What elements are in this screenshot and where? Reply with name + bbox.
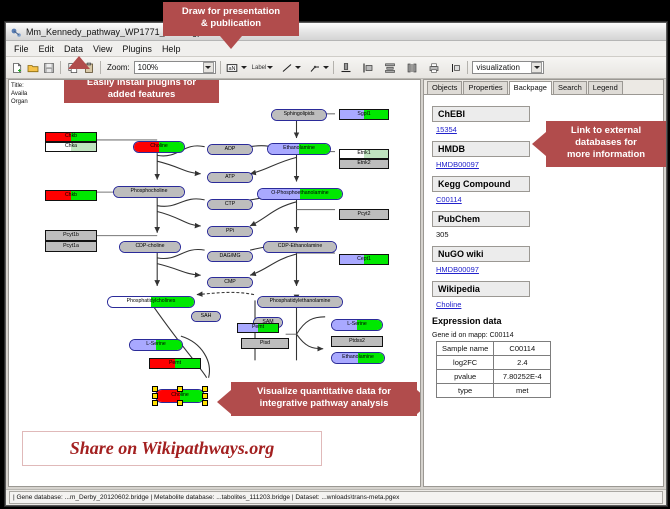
chevron-down-icon[interactable]	[203, 62, 214, 73]
tab-properties[interactable]: Properties	[463, 81, 507, 94]
callout-links-arrow-left	[532, 132, 546, 156]
align-left-icon[interactable]	[360, 60, 375, 75]
zoom-value: 100%	[138, 63, 203, 72]
zoom-combo[interactable]: 100%	[134, 61, 216, 74]
node-label: CMP	[224, 280, 236, 285]
pathway-node-metabolite[interactable]: L-Serine	[129, 339, 183, 351]
node-label: Sgpl1	[357, 112, 370, 117]
node-label: DAG/MG	[219, 254, 240, 259]
callout-links-line2: databases for	[575, 137, 637, 148]
node-label: CTP	[225, 202, 235, 207]
menu-data[interactable]: Data	[59, 43, 88, 55]
anchorline-chevron-down-icon[interactable]	[323, 66, 329, 69]
db-header-pubchem: PubChem	[432, 211, 530, 227]
db-value-pubchem: 305	[436, 230, 655, 239]
node-label: Phosphatidylethanolamine	[270, 299, 331, 304]
pathway-node-metabolite[interactable]: Choline	[133, 141, 185, 153]
toolbar-separator-1	[60, 61, 61, 74]
pathway-node-gene[interactable]: Chka	[45, 142, 97, 152]
pathway-node-metabolite[interactable]: L-Serine	[331, 319, 383, 331]
pathway-node-gene[interactable]: Cept1	[339, 254, 389, 265]
pathway-node-metabolite[interactable]: SAH	[191, 311, 221, 322]
tab-search[interactable]: Search	[553, 81, 587, 94]
toolbar-separator-2	[100, 61, 101, 74]
cell-value: met	[494, 384, 551, 398]
callout-draw-line1: Draw for presentation	[182, 6, 280, 17]
pathway-node-gene[interactable]: Chkb	[45, 132, 97, 142]
print-icon[interactable]	[426, 60, 441, 75]
datanode-tool[interactable]: aN	[225, 60, 247, 75]
meta-title-label: Title:	[11, 82, 28, 90]
pathway-node-metabolite[interactable]: Phosphocholine	[113, 186, 185, 198]
node-label: Pisd	[260, 341, 270, 346]
node-label: Ethanolamine	[342, 355, 374, 360]
callout-plugins-arrow-up	[68, 56, 90, 69]
screenshot-root: Mm_Kennedy_pathway_WP1771_45176.gpml Fil…	[0, 0, 670, 509]
pathway-node-metabolite[interactable]: CTP	[207, 199, 253, 210]
db-header-chebi: ChEBI	[432, 106, 530, 122]
expression-data-title: Expression data	[432, 316, 655, 326]
label-tool[interactable]: Label	[252, 65, 274, 71]
callout-visualize-line1: Visualize quantitative data for	[257, 386, 391, 397]
node-label: Phosphocholine	[131, 189, 168, 194]
pathway-node-gene[interactable]: Sgpl1	[339, 109, 389, 120]
cell-label: pvalue	[437, 370, 494, 384]
pathway-node-gene[interactable]: Pemt	[237, 323, 279, 333]
callout-visualize-arrow-left	[217, 390, 231, 414]
pathway-node-metabolite[interactable]: CDP-Ethanolamine	[263, 241, 337, 253]
save-icon[interactable]	[41, 60, 56, 75]
visualization-combo[interactable]: visualization	[472, 61, 544, 74]
node-label: L-Serine	[347, 322, 367, 327]
callout-plugins: Easily install plugins for added feature…	[64, 79, 219, 103]
db-header-kegg: Kegg Compound	[432, 176, 530, 192]
node-label: Ethanolamine	[283, 146, 315, 151]
line-chevron-down-icon[interactable]	[295, 66, 301, 69]
node-label: Cept1	[357, 257, 371, 262]
selection-handle[interactable]	[177, 386, 183, 392]
node-label: ATP	[225, 175, 235, 180]
selection-handle[interactable]	[152, 400, 158, 406]
anchor-line-icon[interactable]	[307, 60, 322, 75]
align-bottom-icon[interactable]	[338, 60, 353, 75]
selection-handle[interactable]	[177, 400, 183, 406]
selection-handle[interactable]	[202, 393, 208, 399]
expression-table: Sample name C00114 log2FC 2.4 pvalue 7.8…	[436, 341, 551, 398]
node-label: Ptdss2	[349, 339, 365, 344]
tab-backpage[interactable]: Backpage	[509, 81, 552, 95]
db-header-nugo: NuGO wiki	[432, 246, 530, 262]
pathway-node-metabolite[interactable]: DAG/MG	[207, 251, 253, 262]
node-label: ADP	[225, 147, 236, 152]
node-label: Pcyt2	[358, 212, 371, 217]
cell-label: log2FC	[437, 356, 494, 370]
bring-front-icon[interactable]	[448, 60, 463, 75]
table-row: type met	[437, 384, 551, 398]
same-width-icon[interactable]	[404, 60, 419, 75]
datanode-icon[interactable]: aN	[225, 60, 240, 75]
visualization-chevron-down-icon[interactable]	[531, 62, 542, 73]
cell-label: type	[437, 384, 494, 398]
pathway-node-gene[interactable]: Pcyt1a	[45, 241, 97, 252]
selection-handle[interactable]	[152, 393, 158, 399]
cell-value: 7.80252E-4	[494, 370, 551, 384]
pathway-node-gene[interactable]: Etnk1	[339, 149, 389, 159]
cell-value: 2.4	[494, 356, 551, 370]
callout-visualize-arrow-right	[417, 390, 421, 414]
cell-label: Sample name	[437, 342, 494, 356]
node-label: Etnk2	[357, 161, 370, 166]
pathway-node-gene[interactable]: Etnk2	[339, 159, 389, 169]
panel-tabs[interactable]: Objects Properties Backpage Search Legen…	[424, 80, 663, 95]
menu-help[interactable]: Help	[157, 43, 186, 55]
toolbar-separator-5	[467, 61, 468, 74]
menu-edit[interactable]: Edit	[34, 43, 60, 55]
pathway-node-metabolite[interactable]: Phosphatidylcholines	[107, 296, 195, 308]
node-label: Choline	[150, 144, 168, 149]
pathway-node-metabolite[interactable]: Sphingolipids	[271, 109, 327, 121]
node-label: Chka	[65, 144, 77, 149]
node-label: PPi	[226, 229, 234, 234]
node-label: Pemt	[169, 361, 181, 366]
toolbar-separator-3	[220, 61, 221, 74]
tab-legend[interactable]: Legend	[588, 81, 623, 94]
node-label: Choline	[171, 393, 189, 398]
label-chevron-down-icon[interactable]	[267, 66, 273, 69]
node-label: CDP-Ethanolamine	[278, 244, 322, 249]
node-label: Phosphatidylcholines	[127, 299, 176, 304]
table-row: pvalue 7.80252E-4	[437, 370, 551, 384]
callout-links-line3: more information	[567, 149, 645, 160]
db-link-kegg[interactable]: C00114	[436, 195, 655, 204]
menu-plugins[interactable]: Plugins	[117, 43, 157, 55]
tab-objects[interactable]: Objects	[427, 81, 462, 94]
pathway-node-metabolite[interactable]: PPi	[207, 226, 253, 237]
pathway-canvas[interactable]: Title: Availa Organ	[8, 79, 421, 487]
pathway-node-metabolite[interactable]: Ethanolamine	[267, 143, 331, 155]
callout-plugins-line2: added features	[108, 89, 176, 100]
pathway-node-gene[interactable]: Ptdss2	[331, 336, 383, 347]
toolbar[interactable]: Zoom: 100% aN Label	[6, 57, 666, 79]
node-label: CDP-choline	[135, 244, 164, 249]
pathway-node-gene[interactable]: Pcyt1b	[45, 230, 97, 241]
anchor-line-tool[interactable]	[307, 60, 329, 75]
node-label: Pcyt1b	[63, 233, 79, 238]
callout-draw-arrow-down	[220, 36, 242, 49]
selection-handle[interactable]	[202, 400, 208, 406]
node-label: L-Serine	[146, 342, 166, 347]
table-row: log2FC 2.4	[437, 356, 551, 370]
svg-text:aN: aN	[229, 66, 236, 72]
node-label: Pcyt1a	[63, 244, 79, 249]
callout-visualize-line2: integrative pathway analysis	[260, 398, 389, 409]
selection-handle[interactable]	[152, 386, 158, 392]
pathway-node-metabolite[interactable]: Phosphatidylethanolamine	[257, 296, 343, 308]
node-label: SAH	[201, 314, 212, 319]
menu-view[interactable]: View	[88, 43, 117, 55]
pathvisio-window: Mm_Kennedy_pathway_WP1771_45176.gpml Fil…	[5, 22, 667, 506]
callout-plugins-line1: Easily install plugins for	[87, 79, 196, 88]
new-file-icon[interactable]	[9, 60, 24, 75]
pathway-node-metabolite[interactable]: ADP	[207, 144, 253, 155]
callout-draw: Draw for presentation & publication	[163, 2, 299, 36]
pathway-node-gene[interactable]: Pcyt2	[339, 209, 389, 220]
pathway-node-gene[interactable]: Pemt	[149, 358, 201, 369]
callout-links-line1: Link to external	[571, 125, 641, 136]
meta-availability-label: Availa	[11, 90, 28, 98]
selection-handle[interactable]	[202, 386, 208, 392]
callout-share-text: Share on Wikipathways.org	[70, 438, 275, 459]
pathway-node-metabolite[interactable]: CDP-choline	[119, 241, 181, 253]
distribute-icon[interactable]	[382, 60, 397, 75]
node-label: Chkb	[65, 193, 77, 198]
pathway-node-metabolite[interactable]: O-Phosphoethanolamine	[257, 188, 343, 200]
open-folder-icon[interactable]	[25, 60, 40, 75]
node-label: Chkb	[65, 134, 77, 139]
node-label: Sphingolipids	[284, 112, 315, 117]
db-header-hmdb: HMDB	[432, 141, 530, 157]
menu-file[interactable]: File	[9, 43, 34, 55]
pathway-node-metabolite[interactable]: ATP	[207, 172, 253, 183]
pathway-meta-labels: Title: Availa Organ	[11, 82, 28, 106]
status-text: | Gene database: ...m_Derby_20120602.bri…	[9, 491, 663, 504]
zoom-label: Zoom:	[107, 63, 130, 72]
datanode-chevron-down-icon[interactable]	[241, 66, 247, 69]
title-bar: Mm_Kennedy_pathway_WP1771_45176.gpml	[6, 23, 666, 41]
visualization-value: visualization	[476, 63, 531, 72]
meta-organism-label: Organ	[11, 98, 28, 106]
node-label: Pemt	[252, 325, 264, 330]
line-icon[interactable]	[279, 60, 294, 75]
callout-draw-line2: & publication	[201, 18, 261, 29]
db-link-nugo[interactable]: HMDB00097	[436, 265, 655, 274]
pathway-node-gene[interactable]: Chkb	[45, 190, 97, 201]
line-tool[interactable]	[279, 60, 301, 75]
callout-share: Share on Wikipathways.org	[22, 431, 322, 466]
cell-value: C00114	[494, 342, 551, 356]
node-label: Etnk1	[357, 151, 370, 156]
node-label: O-Phosphoethanolamine	[271, 191, 328, 196]
toolbar-separator-4	[333, 61, 334, 74]
menu-bar[interactable]: File Edit Data View Plugins Help	[6, 41, 666, 57]
pathway-node-gene[interactable]: Pisd	[241, 338, 289, 349]
app-icon	[10, 26, 22, 38]
status-bar: | Gene database: ...m_Derby_20120602.bri…	[6, 489, 666, 505]
label-tool-label: Label	[252, 65, 267, 71]
db-header-wikipedia: Wikipedia	[432, 281, 530, 297]
pathway-node-metabolite[interactable]: CMP	[207, 277, 253, 288]
pathway-node-metabolite[interactable]: Ethanolamine	[331, 352, 385, 364]
gene-id-line: Gene id on mapp: C00114	[432, 332, 655, 339]
db-link-wikipedia[interactable]: Choline	[436, 300, 655, 309]
callout-links: Link to external databases for more info…	[546, 121, 666, 167]
callout-visualize: Visualize quantitative data for integrat…	[231, 382, 417, 416]
table-row: Sample name C00114	[437, 342, 551, 356]
